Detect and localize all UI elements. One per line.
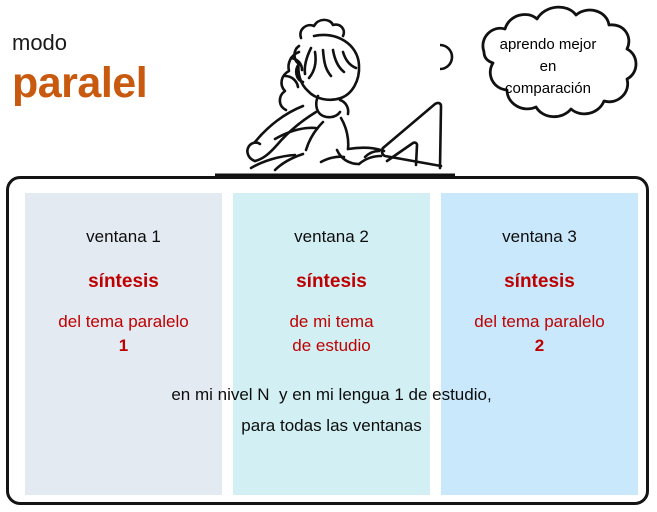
windows-panel: ventana 1 síntesis del tema paralelo 1 v…	[6, 176, 649, 505]
window-3-body: del tema paralelo 2	[441, 310, 638, 358]
mode-kicker-label: modo	[12, 32, 67, 54]
window-3-body-line: del tema paralelo	[474, 312, 604, 331]
page-title: paralel	[12, 62, 147, 105]
window-2-body-line: de mi tema	[289, 312, 373, 331]
window-column-1-body: ventana 1 síntesis del tema paralelo 1	[25, 193, 222, 403]
window-2-label: ventana 2	[233, 227, 430, 247]
thought-bubble: aprendo mejor en comparación	[440, 2, 657, 132]
student-at-laptop-icon	[215, 0, 455, 176]
window-1-label: ventana 1	[25, 227, 222, 247]
thought-bubble-line-2: en	[458, 56, 638, 78]
thought-bubble-text: aprendo mejor en comparación	[458, 34, 638, 99]
window-3-heading: síntesis	[441, 271, 638, 294]
thought-bubble-line-3: comparación	[458, 78, 638, 100]
window-1-body-line: del tema paralelo	[58, 312, 188, 331]
window-columns: ventana 1 síntesis del tema paralelo 1 v…	[25, 193, 638, 495]
window-column-1[interactable]: ventana 1 síntesis del tema paralelo 1	[25, 193, 222, 495]
window-column-3[interactable]: ventana 3 síntesis del tema paralelo 2	[441, 193, 638, 495]
header: modo paralel	[0, 0, 657, 176]
window-1-heading: síntesis	[25, 271, 222, 294]
window-3-body-emphasis: 2	[441, 334, 638, 358]
window-2-body: de mi tema de estudio	[233, 310, 430, 358]
window-2-heading: síntesis	[233, 271, 430, 294]
window-1-body-emphasis: 1	[25, 334, 222, 358]
window-column-3-body: ventana 3 síntesis del tema paralelo 2	[441, 193, 638, 403]
window-3-label: ventana 3	[441, 227, 638, 247]
window-column-2-body: ventana 2 síntesis de mi tema de estudio	[233, 193, 430, 403]
thought-bubble-line-1: aprendo mejor	[458, 34, 638, 56]
window-column-2[interactable]: ventana 2 síntesis de mi tema de estudio	[233, 193, 430, 495]
window-1-body: del tema paralelo 1	[25, 310, 222, 358]
window-2-body-emphasis: de estudio	[233, 334, 430, 358]
